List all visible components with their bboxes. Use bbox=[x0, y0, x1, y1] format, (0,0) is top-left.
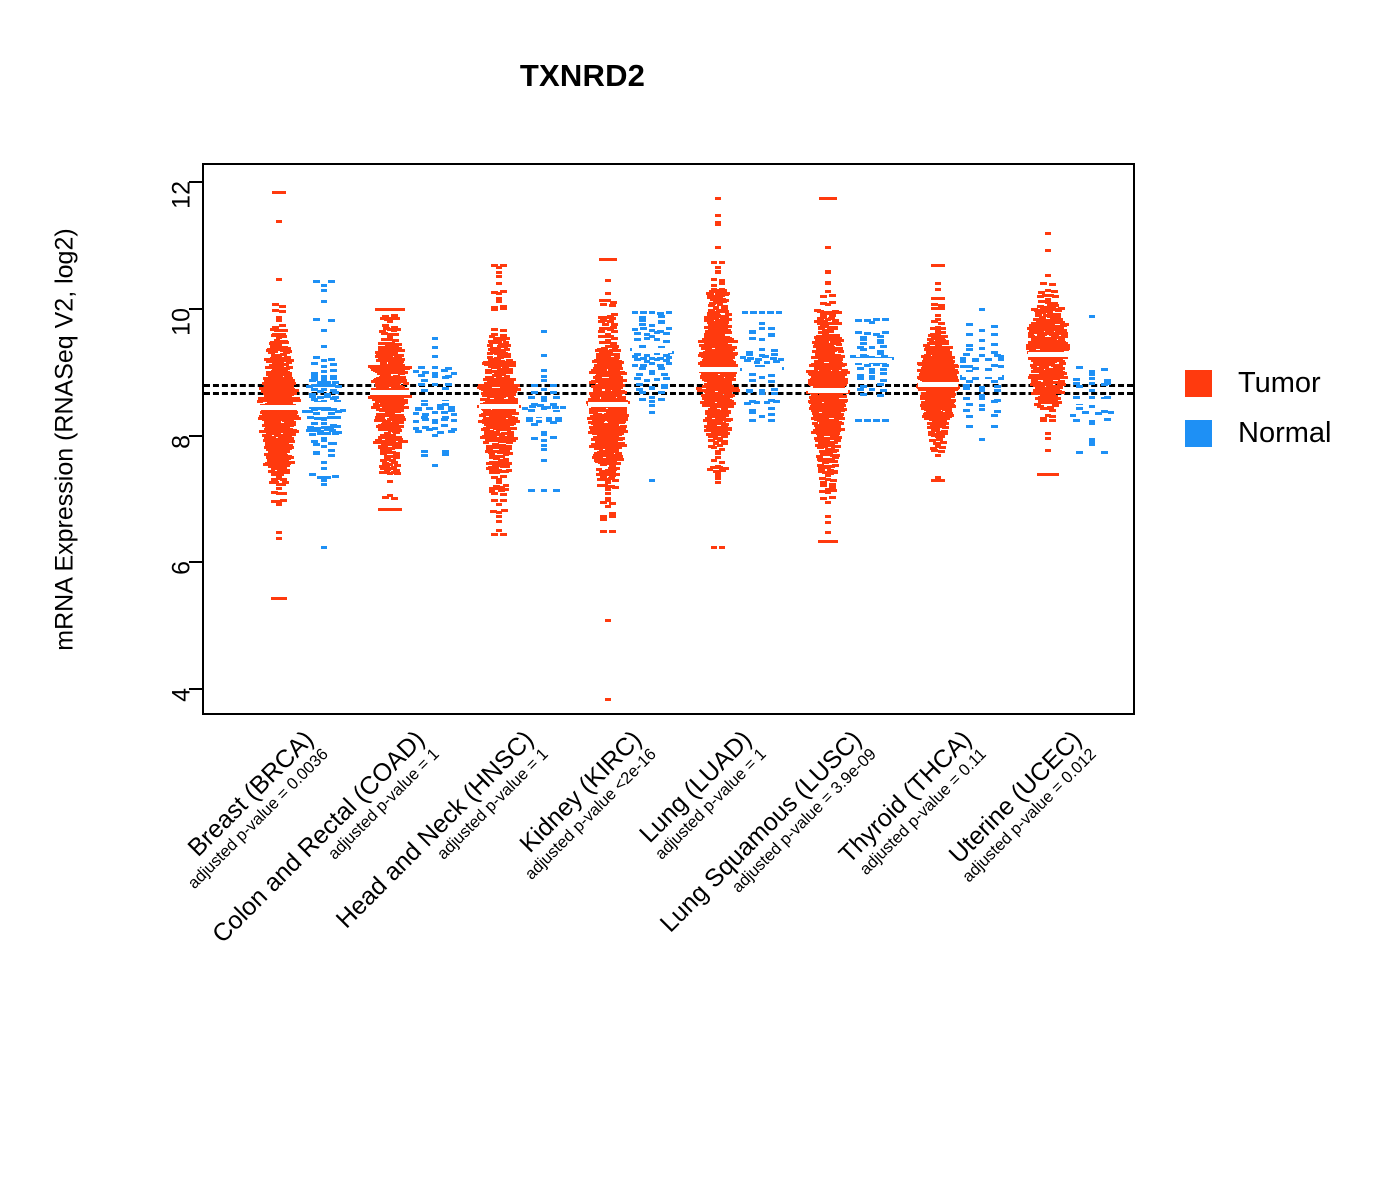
data-point bbox=[639, 391, 646, 394]
data-point bbox=[512, 412, 519, 415]
data-point bbox=[719, 288, 726, 291]
data-point bbox=[811, 417, 818, 420]
data-point bbox=[869, 346, 876, 349]
data-point bbox=[820, 302, 827, 305]
legend-item-normal[interactable]: Normal bbox=[1185, 412, 1331, 454]
data-point bbox=[966, 333, 973, 336]
data-point bbox=[836, 347, 843, 350]
data-point bbox=[405, 395, 412, 398]
data-point bbox=[541, 379, 548, 382]
data-point bbox=[513, 420, 520, 423]
legend-item-tumor[interactable]: Tumor bbox=[1185, 362, 1331, 404]
data-point bbox=[771, 388, 778, 391]
data-point bbox=[833, 454, 840, 457]
data-point bbox=[935, 476, 942, 479]
data-point bbox=[413, 427, 420, 430]
data-point bbox=[309, 473, 316, 476]
data-point bbox=[387, 336, 394, 339]
data-point bbox=[432, 337, 439, 340]
data-point bbox=[600, 476, 607, 479]
data-point bbox=[1058, 380, 1065, 383]
data-point bbox=[666, 362, 673, 365]
data-point bbox=[321, 445, 328, 448]
data-point bbox=[272, 326, 279, 329]
data-point bbox=[279, 191, 286, 194]
data-point bbox=[985, 358, 992, 361]
chart-page: TXNRD2 mRNA Expression (RNASeq V2, log2)… bbox=[0, 0, 1400, 1000]
data-point bbox=[288, 437, 295, 440]
data-point bbox=[749, 337, 756, 340]
data-point bbox=[880, 345, 887, 348]
median-marker bbox=[918, 382, 958, 387]
data-point bbox=[421, 379, 428, 382]
data-point bbox=[724, 329, 731, 332]
data-point bbox=[877, 383, 884, 386]
data-point bbox=[759, 348, 766, 351]
data-point bbox=[620, 444, 627, 447]
data-point bbox=[280, 499, 287, 502]
data-point bbox=[838, 350, 845, 353]
data-point bbox=[1073, 378, 1080, 381]
data-point bbox=[313, 451, 320, 454]
data-point bbox=[276, 531, 283, 534]
data-point bbox=[442, 453, 449, 456]
data-point bbox=[617, 361, 624, 364]
data-point bbox=[324, 381, 331, 384]
median-marker bbox=[370, 390, 410, 395]
data-point bbox=[711, 278, 718, 281]
data-point bbox=[835, 322, 842, 325]
data-point bbox=[330, 442, 337, 445]
data-point bbox=[550, 436, 557, 439]
data-point bbox=[966, 403, 973, 406]
data-point bbox=[503, 337, 510, 340]
data-point bbox=[289, 423, 296, 426]
data-point bbox=[494, 348, 501, 351]
data-point bbox=[605, 488, 612, 491]
data-point bbox=[448, 430, 455, 433]
data-point bbox=[711, 288, 718, 291]
data-point bbox=[829, 294, 836, 297]
data-point bbox=[401, 371, 408, 374]
data-point bbox=[286, 366, 293, 369]
data-point bbox=[945, 408, 952, 411]
data-point bbox=[600, 319, 607, 322]
data-point bbox=[511, 437, 518, 440]
data-point bbox=[749, 411, 756, 414]
data-point bbox=[389, 455, 396, 458]
data-point bbox=[544, 406, 551, 409]
data-point bbox=[1058, 371, 1065, 374]
data-point bbox=[749, 379, 756, 382]
data-point bbox=[658, 398, 665, 401]
data-point bbox=[451, 428, 458, 431]
data-point bbox=[935, 288, 942, 291]
data-point bbox=[952, 365, 959, 368]
data-point bbox=[935, 454, 942, 457]
data-point bbox=[749, 419, 756, 422]
data-point bbox=[639, 319, 646, 322]
data-point bbox=[503, 458, 510, 461]
data-point bbox=[448, 406, 455, 409]
data-point bbox=[437, 431, 444, 434]
data-point bbox=[1104, 418, 1111, 421]
data-point bbox=[413, 420, 420, 423]
data-point bbox=[768, 327, 775, 330]
data-point bbox=[332, 381, 339, 384]
data-point bbox=[272, 309, 279, 312]
data-point bbox=[632, 311, 639, 314]
data-point bbox=[768, 399, 775, 402]
data-point bbox=[506, 368, 513, 371]
data-point bbox=[393, 469, 400, 472]
data-point bbox=[729, 361, 736, 364]
data-point bbox=[649, 396, 656, 399]
data-point bbox=[979, 404, 986, 407]
data-point bbox=[963, 384, 970, 387]
data-point bbox=[432, 366, 439, 369]
data-point bbox=[946, 412, 953, 415]
data-point bbox=[393, 317, 400, 320]
data-point bbox=[510, 427, 517, 430]
data-point bbox=[715, 266, 722, 269]
data-point bbox=[759, 392, 766, 395]
data-point bbox=[755, 358, 762, 361]
data-point bbox=[1101, 410, 1108, 413]
data-point bbox=[509, 409, 516, 412]
data-point bbox=[294, 417, 301, 420]
data-point bbox=[636, 388, 643, 391]
data-point bbox=[834, 354, 841, 357]
data-point bbox=[723, 299, 730, 302]
data-point bbox=[1070, 414, 1077, 417]
data-point bbox=[328, 449, 335, 452]
data-point bbox=[963, 409, 970, 412]
data-point bbox=[1089, 370, 1096, 373]
data-point bbox=[768, 413, 775, 416]
data-point bbox=[324, 476, 331, 479]
data-point bbox=[994, 410, 1001, 413]
y-axis-tick-label: 6 bbox=[168, 561, 197, 575]
y-axis-tick-label: 12 bbox=[168, 181, 197, 209]
data-point bbox=[611, 313, 618, 316]
data-point bbox=[619, 396, 626, 399]
data-point bbox=[945, 351, 952, 354]
data-point bbox=[503, 484, 510, 487]
data-point bbox=[332, 396, 339, 399]
data-point bbox=[644, 360, 651, 363]
data-point bbox=[391, 497, 398, 500]
data-point bbox=[882, 364, 889, 367]
median-marker bbox=[1072, 399, 1112, 404]
data-point bbox=[979, 438, 986, 441]
data-point bbox=[395, 436, 402, 439]
data-point bbox=[609, 515, 616, 518]
data-point bbox=[509, 364, 516, 367]
data-point bbox=[415, 407, 422, 410]
data-point bbox=[501, 509, 508, 512]
data-point bbox=[328, 319, 335, 322]
data-point bbox=[839, 404, 846, 407]
data-point bbox=[1101, 451, 1108, 454]
data-point bbox=[1051, 395, 1058, 398]
data-point bbox=[432, 419, 439, 422]
data-point bbox=[649, 324, 656, 327]
data-point bbox=[605, 292, 612, 295]
data-point bbox=[413, 412, 420, 415]
data-point bbox=[877, 350, 884, 353]
data-point bbox=[972, 377, 979, 380]
data-point bbox=[621, 417, 628, 420]
data-point bbox=[864, 419, 871, 422]
data-point bbox=[313, 356, 320, 359]
data-point bbox=[860, 336, 867, 339]
y-axis-tick-label: 8 bbox=[168, 435, 197, 449]
median-marker bbox=[698, 367, 738, 372]
data-point bbox=[715, 221, 722, 224]
data-point bbox=[966, 425, 973, 428]
data-point bbox=[311, 362, 318, 365]
data-point bbox=[398, 358, 405, 361]
data-point bbox=[321, 370, 328, 373]
data-point bbox=[636, 373, 643, 376]
data-point bbox=[869, 388, 876, 391]
data-point bbox=[825, 290, 832, 293]
data-point bbox=[654, 378, 661, 381]
data-point bbox=[555, 417, 562, 420]
data-point bbox=[882, 318, 889, 321]
legend-swatch-normal bbox=[1185, 420, 1212, 447]
data-point bbox=[552, 406, 559, 409]
data-point bbox=[285, 375, 292, 378]
data-point bbox=[392, 339, 399, 342]
data-point bbox=[268, 470, 275, 473]
data-point bbox=[311, 388, 318, 391]
data-point bbox=[505, 344, 512, 347]
data-point bbox=[531, 384, 538, 387]
data-point bbox=[1061, 335, 1068, 338]
data-point bbox=[663, 359, 670, 362]
data-point bbox=[321, 461, 328, 464]
data-point bbox=[395, 508, 402, 511]
data-point bbox=[942, 340, 949, 343]
data-point bbox=[313, 412, 320, 415]
data-point bbox=[432, 411, 439, 414]
data-point bbox=[857, 388, 864, 391]
data-point bbox=[491, 306, 498, 309]
data-point bbox=[873, 318, 880, 321]
data-point bbox=[825, 531, 832, 534]
data-point bbox=[825, 246, 832, 249]
data-point bbox=[831, 470, 838, 473]
data-point bbox=[614, 353, 621, 356]
data-point bbox=[491, 476, 498, 479]
data-point bbox=[295, 399, 302, 402]
data-point bbox=[979, 394, 986, 397]
data-point bbox=[726, 337, 733, 340]
data-point bbox=[1076, 407, 1083, 410]
data-point bbox=[666, 311, 673, 314]
data-point bbox=[432, 383, 439, 386]
data-point bbox=[503, 341, 510, 344]
data-point bbox=[274, 428, 281, 431]
data-point bbox=[491, 533, 498, 536]
median-marker bbox=[808, 388, 848, 393]
data-point bbox=[395, 347, 402, 350]
data-point bbox=[330, 363, 337, 366]
data-point bbox=[663, 354, 670, 357]
data-point bbox=[289, 382, 296, 385]
legend: Tumor Normal bbox=[1185, 362, 1331, 462]
data-point bbox=[276, 319, 283, 322]
data-point bbox=[840, 395, 847, 398]
data-point bbox=[860, 354, 867, 357]
data-point bbox=[831, 326, 838, 329]
data-point bbox=[1089, 389, 1096, 392]
data-point bbox=[321, 437, 328, 440]
data-point bbox=[422, 426, 429, 429]
data-point bbox=[500, 305, 507, 308]
data-point bbox=[496, 515, 503, 518]
data-point bbox=[759, 338, 766, 341]
data-point bbox=[276, 278, 283, 281]
data-point bbox=[621, 430, 628, 433]
data-point bbox=[321, 365, 328, 368]
data-point bbox=[496, 282, 503, 285]
data-point bbox=[321, 375, 328, 378]
data-point bbox=[609, 530, 616, 533]
data-point bbox=[609, 304, 616, 307]
data-point bbox=[321, 345, 328, 348]
data-point bbox=[979, 397, 986, 400]
data-point bbox=[324, 432, 331, 435]
data-point bbox=[513, 384, 520, 387]
data-point bbox=[612, 479, 619, 482]
data-point bbox=[321, 329, 328, 332]
data-point bbox=[619, 420, 626, 423]
data-point bbox=[825, 281, 832, 284]
data-point bbox=[445, 383, 452, 386]
data-point bbox=[620, 372, 627, 375]
data-point bbox=[288, 379, 295, 382]
data-point bbox=[511, 398, 518, 401]
data-point bbox=[639, 367, 646, 370]
data-point bbox=[432, 372, 439, 375]
data-point bbox=[451, 419, 458, 422]
data-point bbox=[432, 375, 439, 378]
data-point bbox=[600, 530, 607, 533]
data-point bbox=[1054, 313, 1061, 316]
data-point bbox=[1058, 391, 1065, 394]
data-point bbox=[1034, 403, 1041, 406]
data-point bbox=[829, 301, 836, 304]
data-point bbox=[397, 354, 404, 357]
data-point bbox=[445, 375, 452, 378]
data-point bbox=[550, 391, 557, 394]
data-point bbox=[649, 329, 656, 332]
median-marker bbox=[632, 348, 672, 353]
data-point bbox=[1045, 274, 1052, 277]
data-point bbox=[836, 343, 843, 346]
data-point bbox=[658, 367, 665, 370]
data-point bbox=[391, 314, 398, 317]
data-point bbox=[759, 389, 766, 392]
data-point bbox=[869, 368, 876, 371]
data-point bbox=[1104, 379, 1111, 382]
data-point bbox=[401, 440, 408, 443]
data-point bbox=[506, 445, 513, 448]
data-point bbox=[531, 391, 538, 394]
data-point bbox=[715, 197, 722, 200]
data-point bbox=[836, 358, 843, 361]
data-point bbox=[321, 483, 328, 486]
data-point bbox=[723, 467, 730, 470]
data-point bbox=[276, 487, 283, 490]
data-point bbox=[287, 456, 294, 459]
data-point bbox=[820, 481, 827, 484]
data-point bbox=[931, 307, 938, 310]
data-point bbox=[759, 376, 766, 379]
data-point bbox=[605, 492, 612, 495]
data-point bbox=[649, 386, 656, 389]
data-point bbox=[496, 300, 503, 303]
legend-swatch-tumor bbox=[1185, 370, 1212, 397]
data-point bbox=[491, 264, 498, 267]
data-point bbox=[717, 309, 724, 312]
data-point bbox=[838, 428, 845, 431]
data-point bbox=[746, 389, 753, 392]
data-point bbox=[749, 330, 756, 333]
data-point bbox=[979, 329, 986, 332]
data-point bbox=[657, 312, 664, 315]
data-point bbox=[770, 357, 777, 360]
data-point bbox=[938, 322, 945, 325]
data-point bbox=[289, 433, 296, 436]
data-point bbox=[399, 386, 406, 389]
data-point bbox=[279, 305, 286, 308]
data-point bbox=[979, 354, 986, 357]
data-point bbox=[860, 348, 867, 351]
data-point bbox=[838, 417, 845, 420]
data-point bbox=[393, 375, 400, 378]
data-point bbox=[931, 297, 938, 300]
data-point bbox=[379, 330, 386, 333]
data-point bbox=[418, 366, 425, 369]
data-point bbox=[617, 376, 624, 379]
data-point bbox=[1063, 347, 1070, 350]
data-point bbox=[611, 337, 618, 340]
data-point bbox=[759, 327, 766, 330]
data-point bbox=[972, 358, 979, 361]
data-point bbox=[1076, 366, 1083, 369]
data-point bbox=[1089, 420, 1096, 423]
data-point bbox=[979, 389, 986, 392]
data-point bbox=[441, 424, 448, 427]
data-point bbox=[1051, 290, 1058, 293]
data-point bbox=[1073, 419, 1080, 422]
data-point bbox=[768, 380, 775, 383]
data-point bbox=[292, 430, 299, 433]
data-point bbox=[825, 474, 832, 477]
y-axis-tick-label: 10 bbox=[168, 308, 197, 336]
data-point bbox=[771, 349, 778, 352]
data-point bbox=[321, 479, 328, 482]
data-point bbox=[500, 475, 507, 478]
data-point bbox=[663, 377, 670, 380]
data-point bbox=[392, 333, 399, 336]
data-point bbox=[991, 414, 998, 417]
data-point bbox=[1052, 295, 1059, 298]
